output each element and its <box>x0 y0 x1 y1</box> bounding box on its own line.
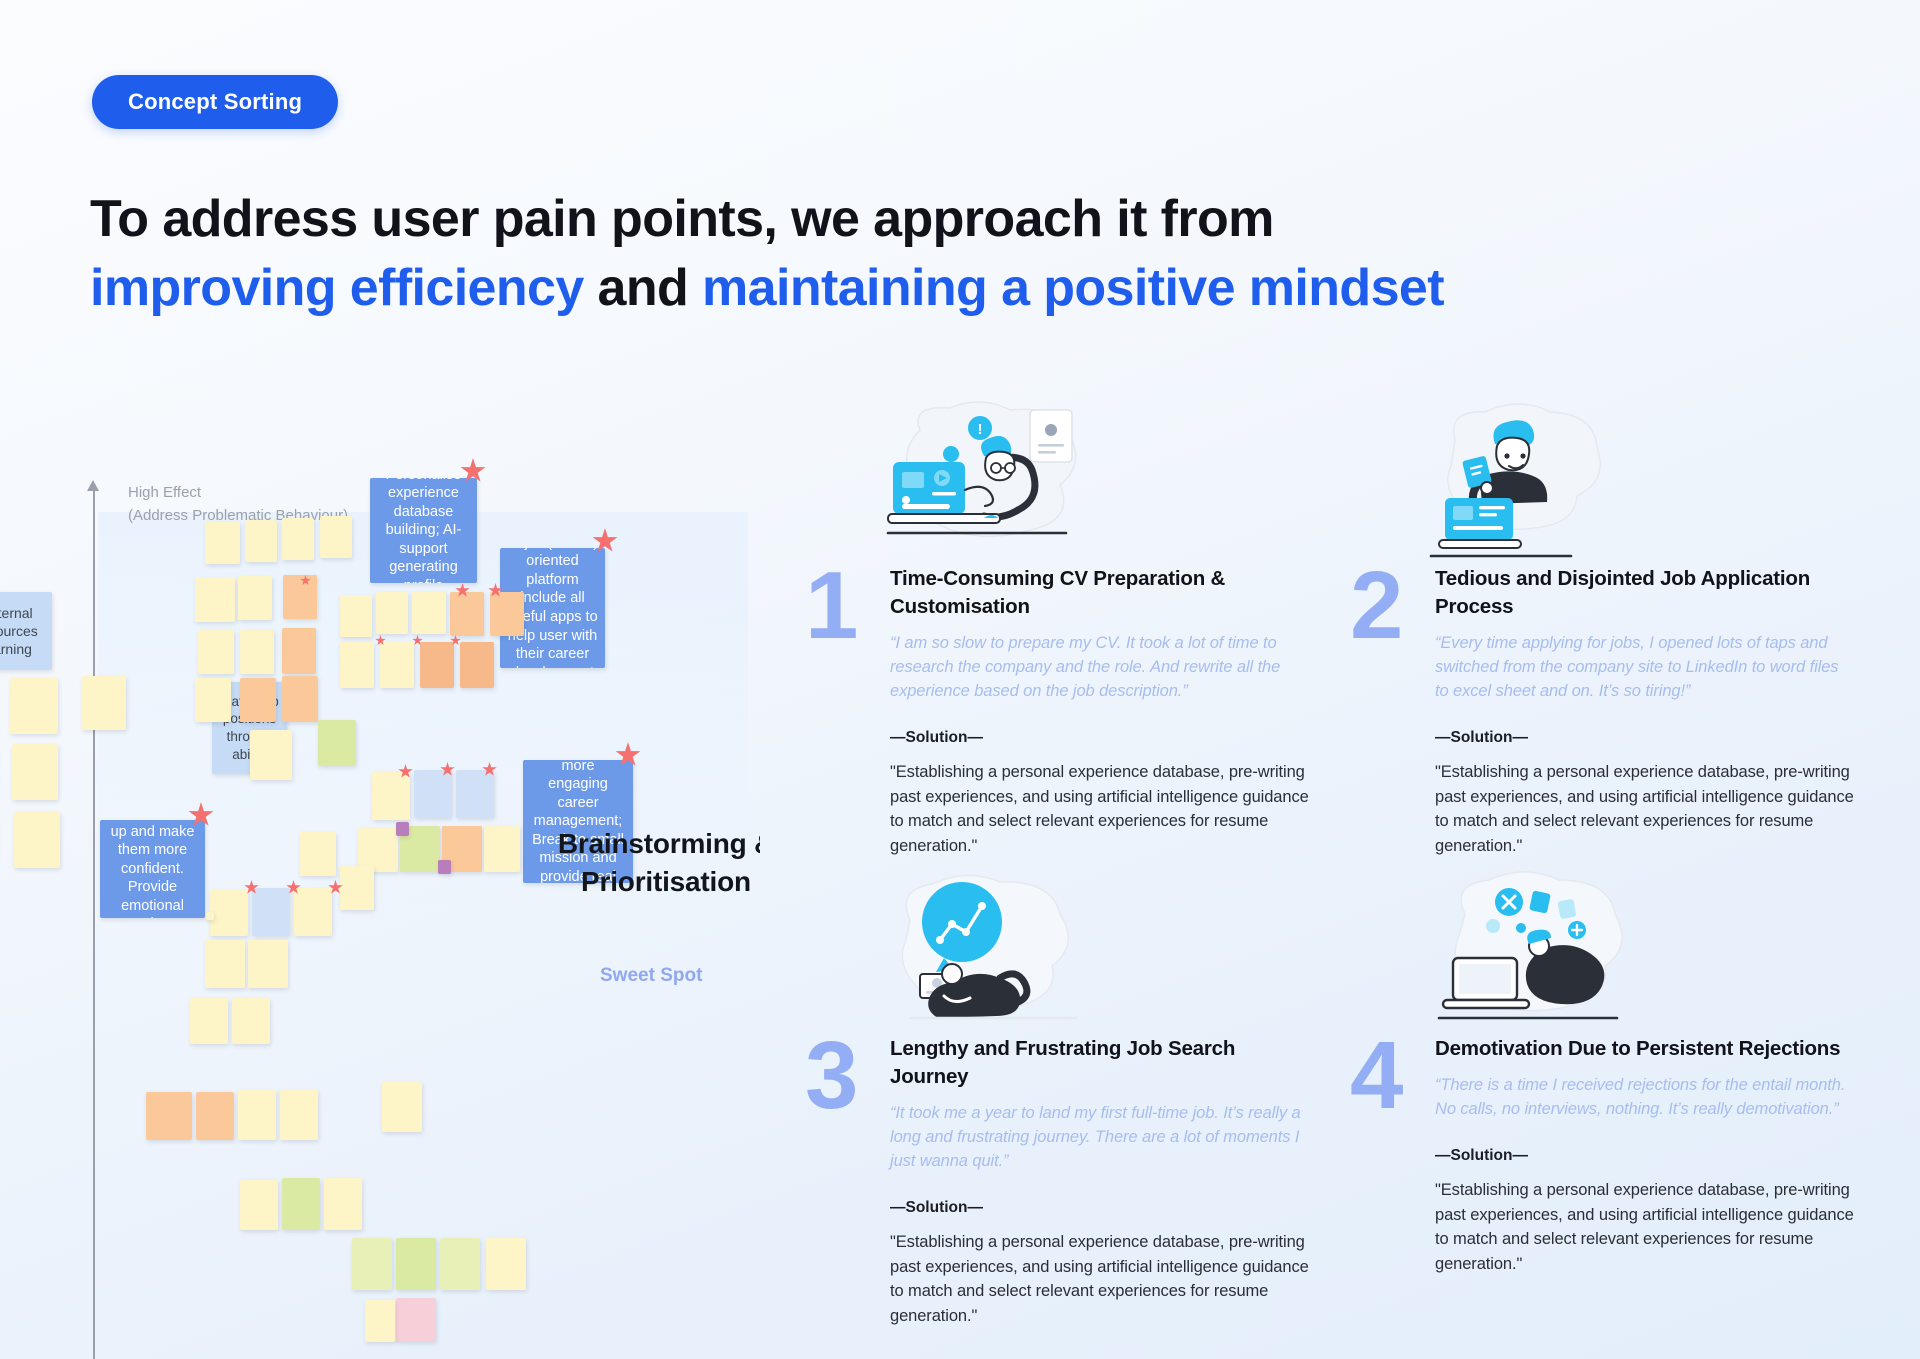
sticky-note[interactable] <box>240 1180 278 1230</box>
sticky-note[interactable] <box>245 520 277 562</box>
highlight-note-cheer-users[interactable]: Cheer users up and make them more confid… <box>100 820 205 918</box>
sticky-note[interactable] <box>12 744 58 800</box>
sticky-note[interactable] <box>380 642 414 688</box>
sticky-note[interactable] <box>340 595 372 637</box>
sticky-note[interactable] <box>238 1090 276 1140</box>
sticky-note[interactable] <box>283 575 317 619</box>
sticky-note[interactable] <box>195 678 231 722</box>
sticky-note-tag[interactable] <box>438 860 451 874</box>
pain-point-card-4: 4 Demotivation Due to Persistent Rejecti… <box>1435 870 1855 1277</box>
sticky-note[interactable] <box>456 770 494 818</box>
sticky-note[interactable] <box>450 592 484 636</box>
card-1-solution: "Establishing a personal experience data… <box>890 760 1310 859</box>
card-3-number: 3 <box>805 1037 855 1116</box>
card-4-body: 4 Demotivation Due to Persistent Rejecti… <box>1435 1035 1855 1277</box>
headline-accent-efficiency: improving efficiency <box>90 259 584 317</box>
sticky-note[interactable] <box>486 1238 526 1290</box>
sticky-note[interactable] <box>352 1238 392 1290</box>
sticky-note[interactable] <box>196 1092 234 1140</box>
card-2-quote: “Every time applying for jobs, I opened … <box>1435 632 1855 704</box>
card-4-title: Demotivation Due to Persistent Rejection… <box>1435 1035 1855 1063</box>
card-3-solution: "Establishing a personal experience data… <box>890 1230 1310 1329</box>
concept-sorting-badge: Concept Sorting <box>92 75 338 129</box>
card-1-quote: “I am so slow to prepare my CV. It took … <box>890 632 1310 704</box>
headline-accent-mindset: maintaining a positive mindset <box>702 259 1444 317</box>
highlight-note-personalise[interactable]: Personalise experience database building… <box>370 478 477 583</box>
headline-line-1: To address user pain points, we approach… <box>90 185 1850 254</box>
sticky-note[interactable] <box>205 522 240 564</box>
sticky-note[interactable] <box>460 642 494 688</box>
sticky-note[interactable] <box>238 576 272 620</box>
sticky-note[interactable] <box>324 1178 362 1230</box>
sticky-note[interactable] <box>248 940 288 988</box>
sticky-note[interactable] <box>146 1092 192 1140</box>
sticky-note <box>206 912 214 920</box>
card-2-body: 2 Tedious and Disjointed Job Application… <box>1435 565 1855 859</box>
sticky-note[interactable] <box>195 578 235 622</box>
card-1-body: 1 Time-Consuming CV Preparation & Custom… <box>890 565 1310 859</box>
card-2-solution: "Establishing a personal experience data… <box>1435 760 1855 859</box>
sticky-note[interactable] <box>14 812 60 868</box>
sticky-note[interactable] <box>282 1178 320 1230</box>
card-1-number: 1 <box>805 567 855 646</box>
sticky-note[interactable] <box>10 678 58 734</box>
card-2-title: Tedious and Disjointed Job Application P… <box>1435 565 1855 621</box>
card-3-body: 3 Lengthy and Frustrating Job Search Jou… <box>890 1035 1310 1329</box>
headline-line-2: improving efficiency and maintaining a p… <box>90 254 1850 323</box>
sticky-note[interactable] <box>232 998 270 1044</box>
card-4-quote: “There is a time I received rejections f… <box>1435 1074 1855 1122</box>
sticky-note[interactable] <box>282 676 318 722</box>
y-axis-line <box>93 488 95 1359</box>
card-4-solution-label: —Solution— <box>1435 1147 1855 1165</box>
badge-label: Concept Sorting <box>128 89 302 114</box>
sticky-note[interactable] <box>240 630 274 674</box>
card-4-solution: "Establishing a personal experience data… <box>1435 1178 1855 1277</box>
card-4-number: 4 <box>1350 1037 1400 1116</box>
card-1-title: Time-Consuming CV Preparation & Customis… <box>890 565 1310 621</box>
sticky-note[interactable] <box>420 642 454 688</box>
y-axis-label: High Effect (Address Problematic Behavio… <box>128 482 348 527</box>
matrix-title: Brainstorming & Prioritisation <box>516 825 760 901</box>
card-1-illustration: ! <box>890 400 1310 565</box>
sticky-note[interactable] <box>382 1082 422 1132</box>
card-3-quote: “It took me a year to land my first full… <box>890 1102 1310 1174</box>
sticky-note[interactable] <box>282 518 314 560</box>
card-2-illustration <box>1435 400 1855 565</box>
sticky-note[interactable] <box>365 1300 395 1342</box>
sticky-note[interactable] <box>280 1090 318 1140</box>
highlight-note-external-resources[interactable]: External resources learning <box>0 592 52 670</box>
y-axis-arrow-icon <box>87 480 99 491</box>
sticky-note[interactable] <box>300 832 336 876</box>
sticky-note[interactable] <box>320 516 352 558</box>
pain-point-card-1: ! 1 Time-Cons <box>890 400 1310 859</box>
sticky-note[interactable] <box>318 720 356 766</box>
headline-conjunction: and <box>584 259 702 317</box>
card-2-number: 2 <box>1350 567 1400 646</box>
card-3-title: Lengthy and Frustrating Job Search Journ… <box>890 1035 1310 1091</box>
pain-point-card-3: 3 Lengthy and Frustrating Job Search Jou… <box>890 870 1310 1329</box>
sticky-note[interactable] <box>190 998 228 1044</box>
sticky-note[interactable] <box>82 676 126 730</box>
page-title: To address user pain points, we approach… <box>90 185 1850 323</box>
pain-point-card-2: 2 Tedious and Disjointed Job Application… <box>1435 400 1855 859</box>
sticky-note[interactable] <box>294 888 332 936</box>
sticky-note-tag[interactable] <box>396 822 409 836</box>
sticky-note[interactable] <box>282 628 316 674</box>
sticky-note[interactable] <box>376 592 408 634</box>
sticky-note[interactable] <box>440 1238 480 1290</box>
card-4-illustration <box>1435 870 1855 1035</box>
sticky-note[interactable] <box>210 890 248 936</box>
card-1-solution-label: —Solution— <box>890 729 1310 747</box>
card-2-solution-label: —Solution— <box>1435 729 1855 747</box>
svg-text:!: ! <box>978 421 983 438</box>
sticky-note[interactable] <box>250 730 292 780</box>
sticky-note[interactable] <box>414 770 452 818</box>
sticky-note[interactable] <box>490 592 524 636</box>
sticky-note[interactable] <box>396 1238 436 1290</box>
sticky-note[interactable] <box>198 630 234 674</box>
card-3-illustration <box>890 870 1310 1035</box>
sticky-note[interactable] <box>205 940 245 988</box>
sticky-note[interactable] <box>340 866 374 910</box>
sticky-note[interactable] <box>252 888 290 936</box>
sticky-note[interactable] <box>484 826 520 872</box>
sticky-note[interactable] <box>372 772 410 820</box>
sticky-note[interactable] <box>340 642 374 688</box>
sticky-note[interactable] <box>240 678 276 722</box>
sweet-spot-label: Sweet Spot <box>600 965 702 987</box>
sticky-note[interactable] <box>396 1298 436 1342</box>
sticky-note[interactable] <box>412 592 446 634</box>
brainstorming-matrix: High Effect (Address Problematic Behavio… <box>0 420 760 1359</box>
card-3-solution-label: —Solution— <box>890 1199 1310 1217</box>
